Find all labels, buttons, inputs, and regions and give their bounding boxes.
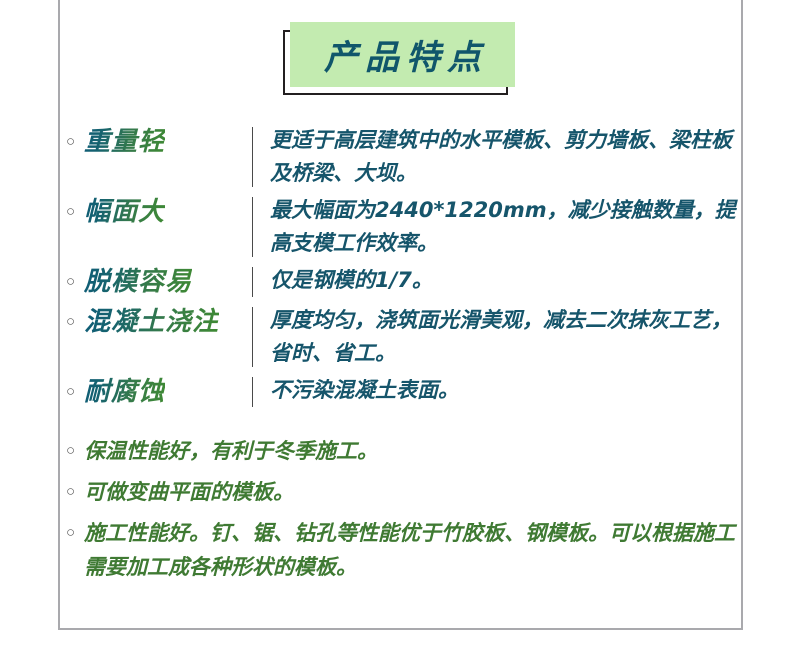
feature-label: 重量轻: [84, 124, 165, 160]
feature-row: ○耐腐蚀不污染混凝土表面。: [62, 374, 740, 410]
bullet-circle-icon: ○: [62, 304, 84, 340]
note-text: 可做变曲平面的模板。: [84, 475, 740, 509]
note-row: ○保温性能好，有利于冬季施工。: [62, 434, 740, 468]
feature-label-cell: 重量轻: [84, 124, 252, 160]
feature-list: ○重量轻更适于高层建筑中的水平模板、剪力墙板、梁柱板及桥梁、大坝。○幅面大最大幅…: [62, 124, 740, 414]
feature-label: 幅面大: [84, 194, 165, 230]
feature-row: ○混凝土浇注厚度均匀，浇筑面光滑美观，减去二次抹灰工艺，省时、省工。: [62, 304, 740, 370]
frame-left-rule: [58, 0, 60, 630]
note-list: ○保温性能好，有利于冬季施工。○可做变曲平面的模板。○施工性能好。钉、锯、钻孔等…: [62, 434, 740, 591]
note-text: 施工性能好。钉、锯、钻孔等性能优于竹胶板、钢模板。可以根据施工需要加工成各种形状…: [84, 516, 740, 584]
bullet-circle-icon: ○: [62, 264, 84, 300]
product-features-page: 产品特点 ○重量轻更适于高层建筑中的水平模板、剪力墙板、梁柱板及桥梁、大坝。○幅…: [0, 0, 800, 648]
feature-description: 更适于高层建筑中的水平模板、剪力墙板、梁柱板及桥梁、大坝。: [253, 124, 740, 190]
feature-label: 耐腐蚀: [84, 374, 165, 410]
bullet-circle-icon: ○: [62, 124, 84, 160]
note-row: ○施工性能好。钉、锯、钻孔等性能优于竹胶板、钢模板。可以根据施工需要加工成各种形…: [62, 516, 740, 584]
feature-label: 混凝土浇注: [84, 304, 219, 340]
bullet-circle-icon: ○: [62, 434, 84, 468]
feature-row: ○重量轻更适于高层建筑中的水平模板、剪力墙板、梁柱板及桥梁、大坝。: [62, 124, 740, 190]
note-text: 保温性能好，有利于冬季施工。: [84, 434, 740, 468]
feature-row: ○脱模容易仅是钢模的1/7。: [62, 264, 740, 300]
frame-right-rule: [741, 0, 743, 630]
feature-description: 不污染混凝土表面。: [253, 374, 740, 407]
bullet-circle-icon: ○: [62, 516, 84, 550]
feature-description: 仅是钢模的1/7。: [253, 264, 740, 297]
note-row: ○可做变曲平面的模板。: [62, 475, 740, 509]
feature-row: ○幅面大最大幅面为2440*1220mm，减少接触数量，提高支模工作效率。: [62, 194, 740, 260]
feature-label-cell: 脱模容易: [84, 264, 252, 300]
feature-label: 脱模容易: [84, 264, 192, 300]
frame-bottom-rule: [58, 628, 743, 630]
bullet-circle-icon: ○: [62, 194, 84, 230]
page-title: 产品特点: [290, 22, 515, 87]
bullet-circle-icon: ○: [62, 475, 84, 509]
bullet-circle-icon: ○: [62, 374, 84, 410]
title-banner: 产品特点: [283, 21, 515, 97]
feature-label-cell: 幅面大: [84, 194, 252, 230]
feature-description: 最大幅面为2440*1220mm，减少接触数量，提高支模工作效率。: [253, 194, 740, 260]
feature-description: 厚度均匀，浇筑面光滑美观，减去二次抹灰工艺，省时、省工。: [253, 304, 740, 370]
feature-label-cell: 混凝土浇注: [84, 304, 252, 340]
feature-label-cell: 耐腐蚀: [84, 374, 252, 410]
